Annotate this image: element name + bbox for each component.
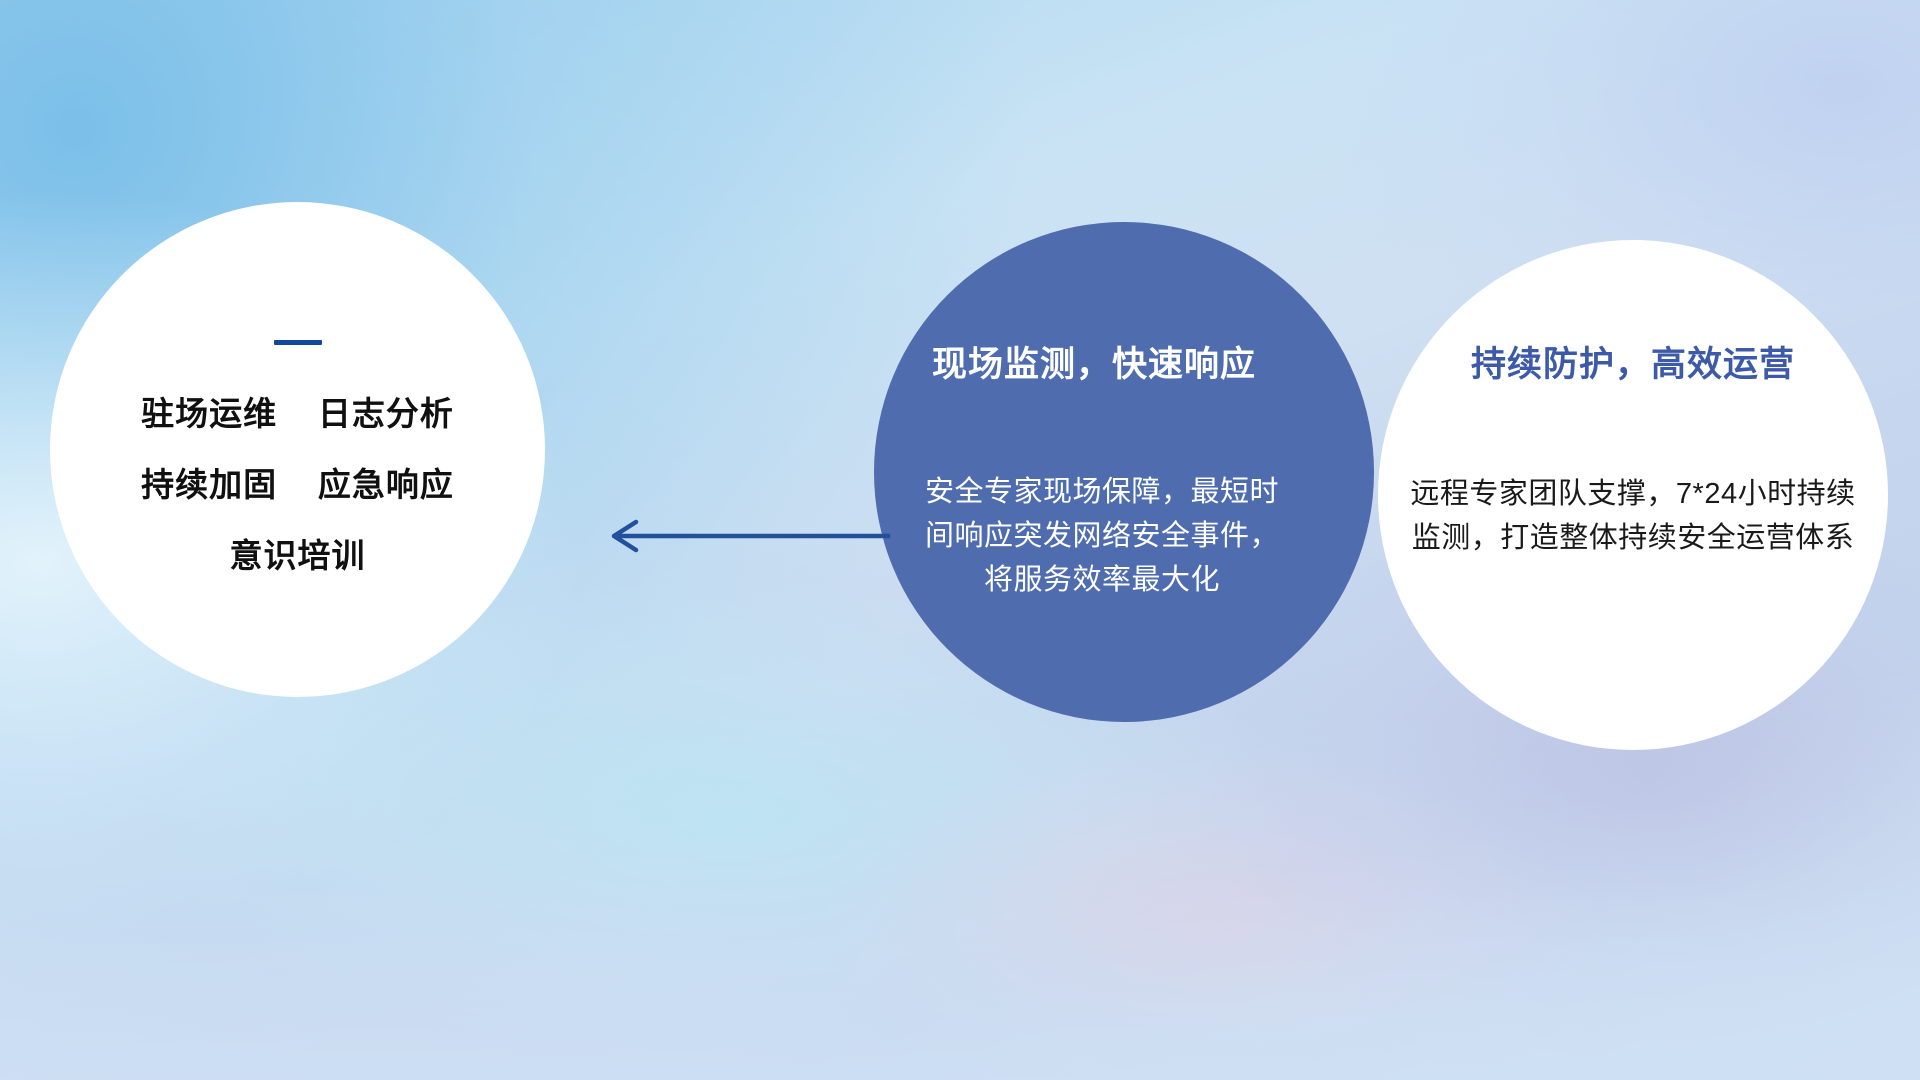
left-capability-circle[interactable]: 驻场运维 日志分析 持续加固 应急响应 意识培训 [50, 202, 545, 697]
right-operations-circle[interactable] [1378, 240, 1888, 750]
left-keyword-line-2: 持续加固 应急响应 [83, 468, 513, 501]
slide-canvas: 驻场运维 日志分析 持续加固 应急响应 意识培训 现场监测，快速响应 安全专家现… [0, 0, 1920, 1080]
flow-arrow-icon [600, 516, 890, 556]
middle-onsite-circle[interactable] [874, 222, 1374, 722]
left-keyword-line-1: 驻场运维 日志分析 [83, 397, 513, 430]
left-keyword-line-3: 意识培训 [83, 539, 513, 572]
left-divider-dash [274, 340, 322, 345]
left-circle-content: 驻场运维 日志分析 持续加固 应急响应 意识培训 [83, 340, 513, 572]
